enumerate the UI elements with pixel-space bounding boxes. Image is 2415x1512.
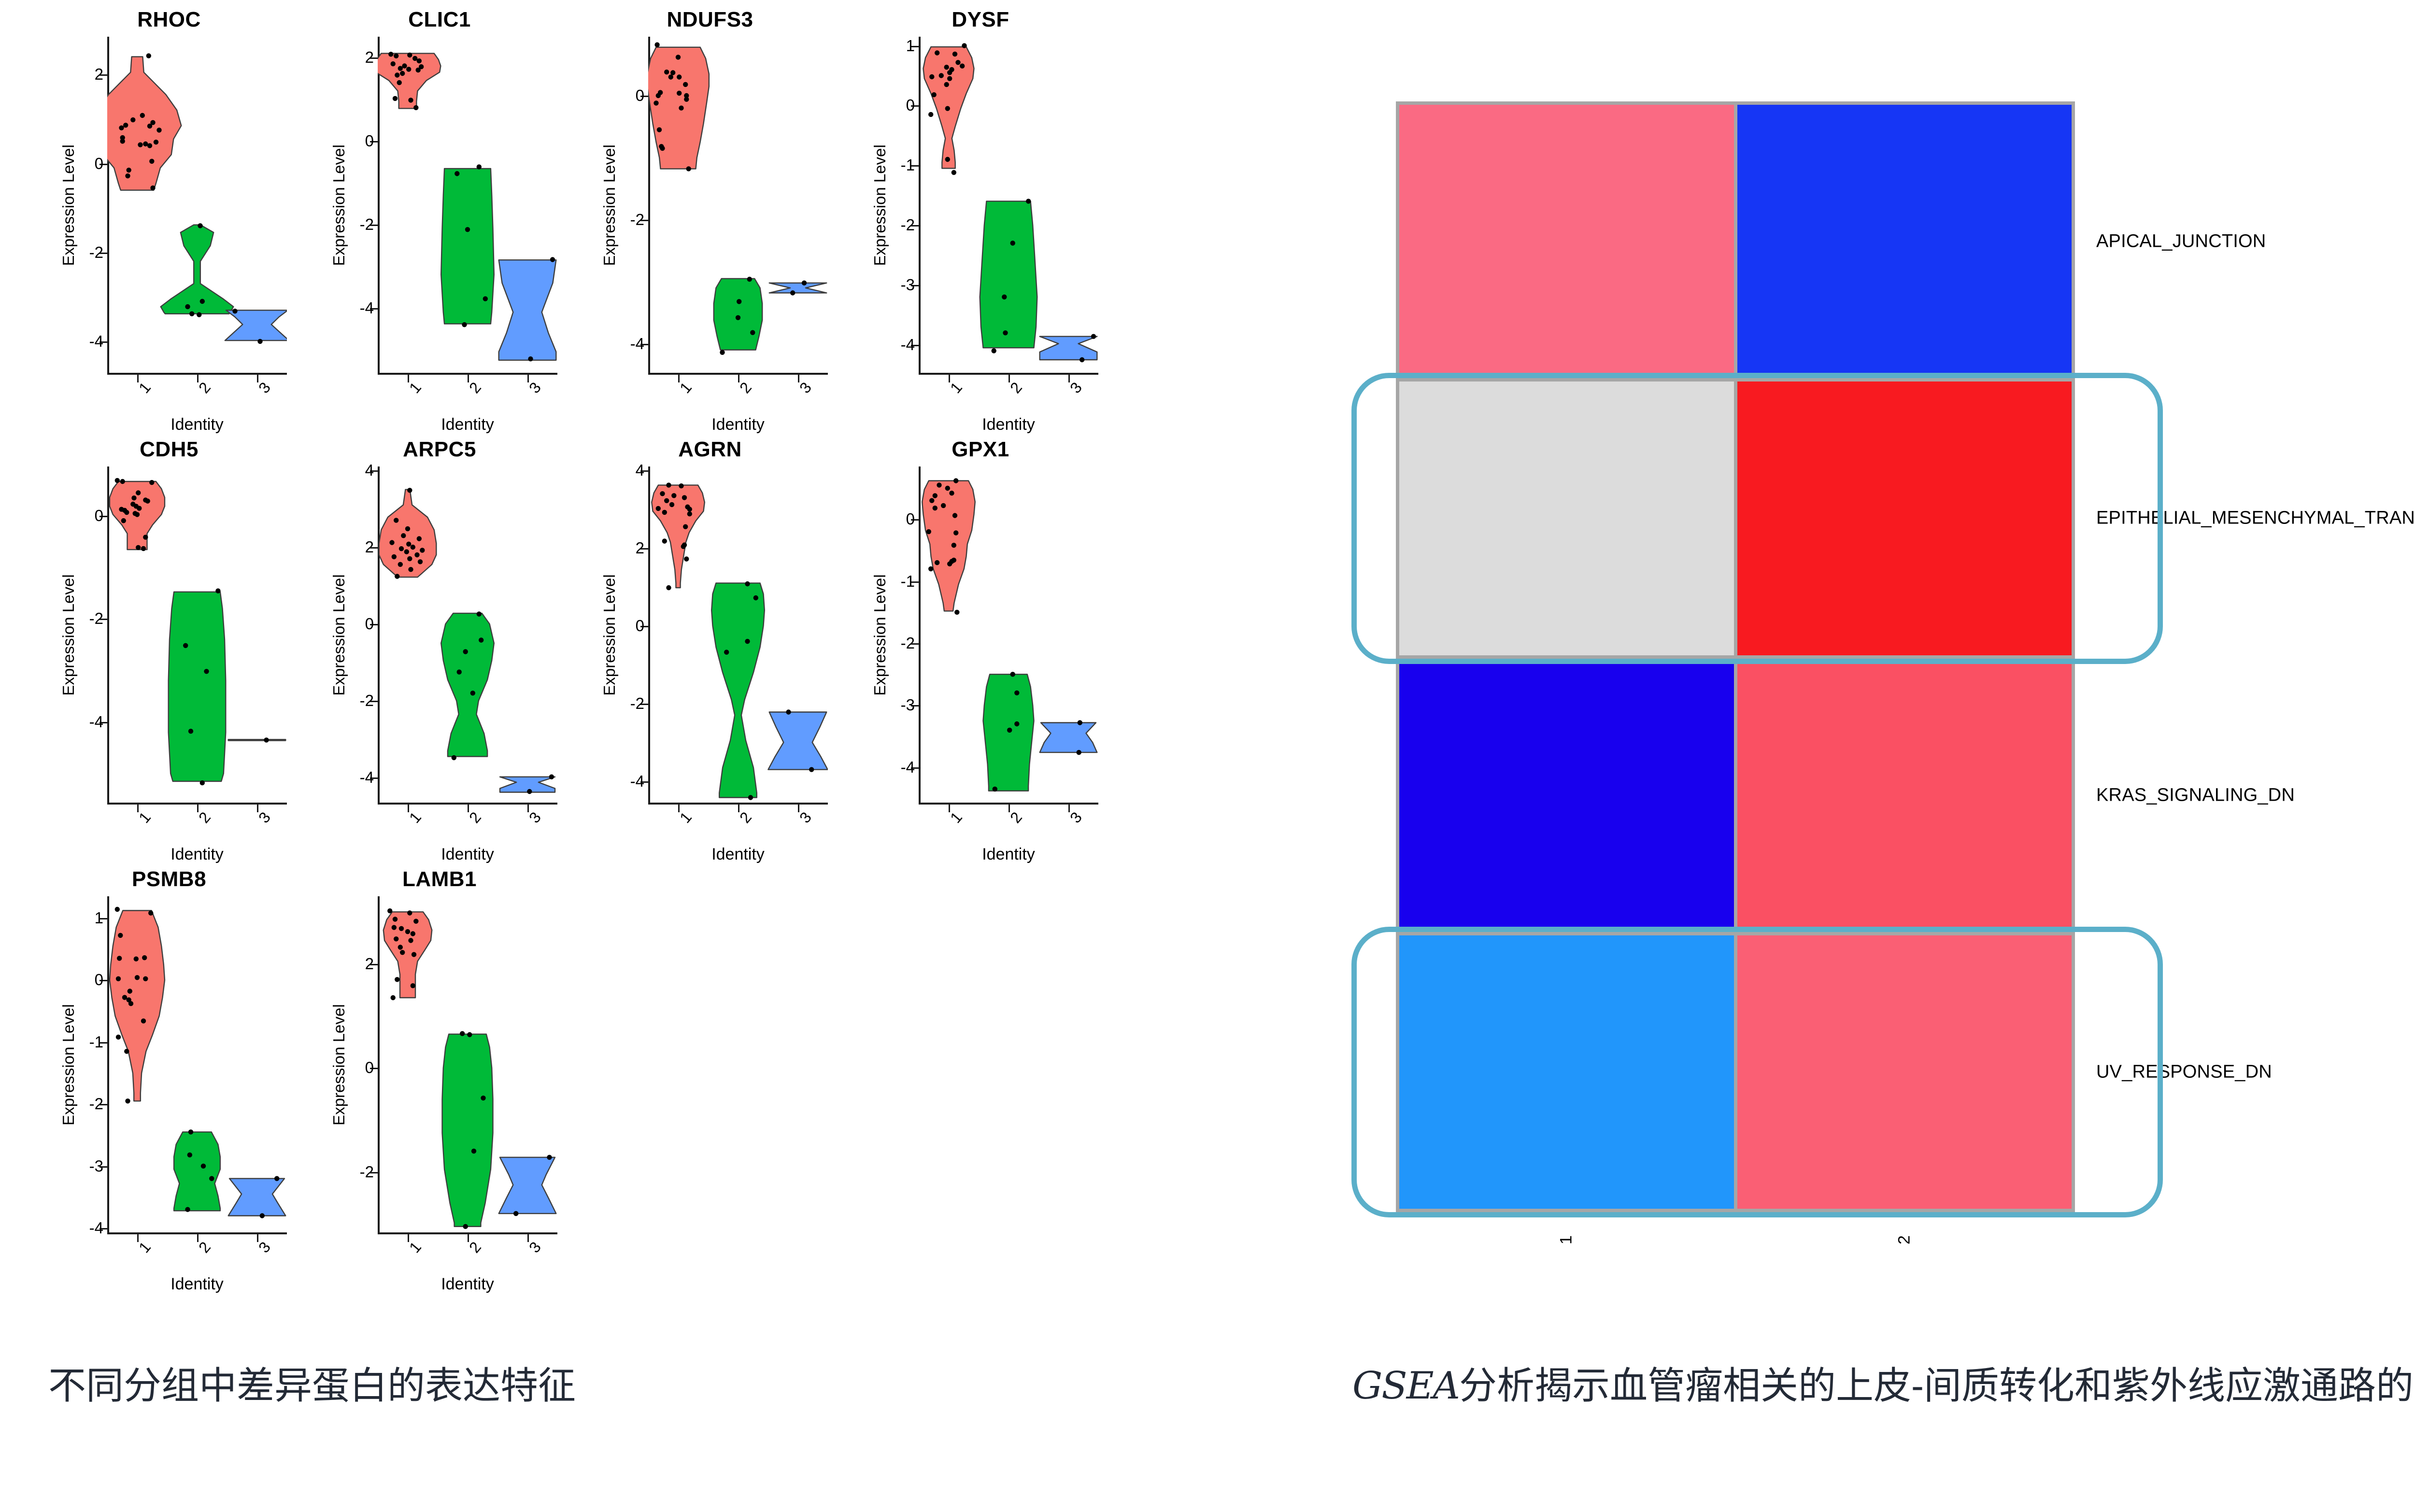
data-point [686,166,691,171]
data-point [189,311,194,316]
right-figure-caption: GSEA分析揭示血管瘤相关的上皮-间质转化和紫外线应激通路的富集 [1352,1367,2415,1405]
data-point [929,498,934,503]
data-point [407,53,412,57]
violin-shapes [378,37,557,375]
data-point [653,100,658,105]
data-point [683,82,688,87]
violin-shapes [919,466,1098,805]
x-axis-title: Identity [378,415,557,434]
data-point [724,650,729,654]
data-point [407,556,412,561]
data-point [135,975,140,980]
data-point [929,74,934,79]
x-axis-tick-label-3: 3 [1066,808,1086,826]
plot-area: 0-2-4123 [648,37,828,375]
violin-panel-title: DYSF [845,8,1116,32]
y-axis-tick-label: -4 [901,336,915,354]
violin-body-group-3 [1040,723,1097,753]
data-point [683,524,688,529]
data-point [1010,672,1015,677]
y-axis-tick-label: -1 [901,156,915,174]
data-point [467,1032,472,1037]
violin-body-group-2 [714,279,762,350]
data-point [405,929,410,934]
x-axis-title: Identity [919,415,1098,434]
data-point [953,530,958,535]
data-point [550,257,555,262]
data-point [394,936,398,941]
data-point [664,498,669,503]
y-axis-tick-label: 1 [906,37,915,55]
data-point [662,538,667,543]
x-axis-tick-label-3: 3 [255,808,274,826]
data-point [470,691,475,695]
data-point [960,64,965,69]
data-point [131,495,136,500]
data-point [669,502,674,507]
violin-plot-grid: RHOC20-2-4123Expression LevelIdentityCLI… [0,0,1198,1342]
x-axis-tick-label-1: 1 [406,379,425,396]
data-point [1026,199,1031,204]
data-point [1010,240,1015,245]
data-point [952,543,956,548]
x-axis-tick-label-2: 2 [195,1238,214,1256]
x-axis-tick-label-3: 3 [796,808,815,826]
violin-panel-lamb1: LAMB120-2123Expression LevelIdentity [304,864,575,1294]
data-point [687,507,692,511]
y-axis-tick-label: -2 [901,634,915,652]
data-point [141,546,146,551]
data-point [398,945,403,949]
data-point [477,164,482,169]
data-point [676,55,681,59]
data-point [115,478,120,483]
x-axis-tick-label-2: 2 [466,1238,485,1256]
data-point [400,71,405,76]
data-point [141,1018,146,1023]
data-point [408,567,413,572]
y-axis-tick-label: 2 [636,539,644,557]
data-point [147,143,152,148]
data-point [134,957,139,961]
x-axis-tick-label-2: 2 [466,808,485,826]
gsea-heatmap-panel: 3.971.30102999566398-1.30102999566398 AP… [1343,0,2415,1342]
y-axis-tick-label: -2 [89,609,103,628]
data-point [135,512,140,517]
data-point [200,299,205,304]
violin-body-group-3 [228,739,286,740]
data-point [928,112,933,117]
data-point [1014,691,1019,695]
data-point [933,493,938,498]
data-point [479,637,483,642]
heatmap-cell [1399,659,1734,932]
plot-area: 420-2-4123 [648,466,828,805]
plot-area: 20-2123 [378,896,557,1234]
data-point [154,140,158,144]
violin-body-group-1 [107,57,181,190]
data-point [992,348,996,353]
x-axis-title: Identity [919,845,1098,864]
violin-body-group-2 [442,1034,493,1226]
data-point [932,92,937,97]
data-point [125,173,130,178]
x-axis-tick-label-2: 2 [195,379,214,396]
data-point [115,907,120,912]
data-point [660,146,665,151]
data-point [117,956,122,961]
violin-panel-title: GPX1 [845,438,1116,462]
violin-panel-clic1: CLIC120-2-4123Expression LevelIdentity [304,5,575,435]
y-axis-tick-label: -3 [901,696,915,714]
violin-body-group-2 [980,201,1037,348]
y-axis-title: Expression Level [330,142,348,268]
data-point [928,566,933,571]
data-point [232,309,237,313]
data-point [654,42,659,47]
data-point [395,977,399,982]
data-point [748,795,753,800]
y-axis-title: Expression Level [871,142,889,268]
heatmap-column-label-2: 2 [1895,1230,1914,1250]
data-point [185,1207,190,1212]
data-point [1002,295,1007,299]
data-point [737,299,741,304]
y-axis-title: Expression Level [59,1002,78,1128]
violin-body-group-2 [174,1132,220,1211]
violin-body-group-3 [225,310,287,340]
data-point [395,72,399,77]
data-point [150,185,155,190]
data-point [937,482,941,487]
violin-body-group-1 [110,911,165,1101]
data-point [660,491,665,496]
x-axis-title: Identity [378,1275,557,1294]
data-point [127,168,131,172]
y-axis-tick-label: 2 [365,48,374,67]
violin-body-group-3 [499,1158,556,1214]
y-axis-tick-label: -2 [901,216,915,234]
caption-rest: 分析揭示血管瘤相关的上皮-间质转化和紫外线应激通路的富集 [1459,1364,2415,1407]
data-point [954,610,959,615]
data-point [147,124,152,128]
data-point [418,559,423,564]
y-axis-tick-label: -2 [89,243,103,262]
plot-area: 10-1-2-3-4123 [107,896,287,1234]
y-axis-tick-label: 4 [636,461,644,480]
data-point [399,926,404,931]
data-point [952,52,957,57]
violin-body-group-3 [1040,337,1097,360]
data-point [420,548,425,552]
x-axis-tick-label-1: 1 [135,808,155,826]
data-point [947,76,952,81]
violin-panel-title: RHOC [34,8,304,32]
data-point [204,669,209,674]
data-point [120,139,125,143]
data-point [257,339,262,344]
data-point [142,955,147,960]
data-point [402,63,407,68]
data-point [681,544,686,549]
data-point [944,65,949,70]
data-point [130,117,135,122]
data-point [411,983,415,988]
data-point [393,96,398,101]
data-point [264,737,269,742]
y-axis-tick-label: -1 [89,1033,103,1051]
data-point [137,506,142,510]
data-point [274,1176,279,1181]
data-point [666,585,671,590]
data-point [405,526,410,531]
violin-body-group-1 [379,490,437,577]
violin-panel-rhoc: RHOC20-2-4123Expression LevelIdentity [34,5,304,435]
x-axis-tick-label-1: 1 [406,1238,425,1256]
data-point [802,281,807,285]
heatmap-cell [1737,659,2072,932]
data-point [1003,330,1008,335]
data-point [460,1031,465,1036]
data-point [947,70,952,75]
data-point [116,1034,121,1039]
data-point [185,304,190,309]
violin-panel-dysf: DYSF10-1-2-3-4123Expression LevelIdentit… [845,5,1116,435]
x-axis-tick-label-3: 3 [796,379,815,396]
data-point [407,488,412,493]
data-point [389,540,394,545]
y-axis-tick-label: -1 [901,572,915,591]
data-point [477,611,482,616]
data-point [122,995,127,1000]
data-point [949,491,954,495]
y-axis-tick-label: 0 [906,96,915,114]
violin-body-group-1 [652,485,705,588]
x-axis-tick-label-3: 3 [255,379,274,396]
violin-panel-title: AGRN [575,438,845,462]
data-point [399,546,404,551]
data-point [391,995,396,1000]
data-point [188,729,193,734]
data-point [143,976,148,981]
data-point [457,669,462,674]
violin-body-group-2 [169,592,226,781]
data-point [941,503,946,508]
y-axis-tick-label: 0 [365,1059,374,1077]
data-point [962,43,966,48]
violin-body-group-2 [441,613,494,757]
plot-area: 0-2-4123 [107,466,287,805]
data-point [200,780,205,785]
data-point [809,767,814,772]
data-point [119,126,124,130]
data-point [1091,334,1096,339]
y-axis-tick-label: 2 [365,955,374,973]
x-axis-title: Identity [107,1275,287,1294]
violin-shapes [107,37,287,375]
y-axis-title: Expression Level [600,142,619,268]
data-point [483,297,488,301]
data-point [786,709,791,714]
data-point [471,1149,476,1154]
data-point [128,989,132,993]
violin-panel-title: ARPC5 [304,438,575,462]
data-point [677,91,682,96]
y-axis-tick-label: -4 [360,768,374,787]
data-point [260,1213,265,1218]
data-point [393,917,398,921]
y-axis-tick-label: -4 [630,335,644,353]
violin-body-group-3 [228,1178,286,1215]
data-point [407,910,412,915]
heatmap-cell [1399,935,1734,1209]
y-axis-tick-label: 0 [365,132,374,150]
violin-body-group-3 [500,777,555,792]
data-point [955,60,960,65]
heatmap-column-label-1: 1 [1557,1230,1576,1250]
data-point [662,510,667,515]
violin-panel-title: LAMB1 [304,867,575,891]
data-point [149,159,154,164]
data-point [398,562,403,567]
data-point [387,908,392,913]
data-point [145,498,150,503]
data-point [790,290,795,295]
data-point [664,70,669,74]
figure-root: RHOC20-2-4123Expression LevelIdentityCLI… [0,0,2415,1512]
violin-panel-agrn: AGRN420-2-4123Expression LevelIdentity [575,435,845,864]
data-point [116,976,121,981]
data-point [397,80,402,85]
y-axis-title: Expression Level [871,572,889,698]
data-point [682,495,687,500]
violin-panel-cdh5: CDH50-2-4123Expression LevelIdentity [34,435,304,864]
y-axis-tick-label: -3 [901,276,915,294]
data-point [687,511,692,516]
x-axis-tick-label-1: 1 [947,379,966,396]
data-point [935,50,939,55]
x-axis-tick-label-3: 3 [1066,379,1086,396]
data-point [670,70,675,75]
y-axis-tick-label: 0 [95,971,103,989]
data-point [392,925,397,930]
x-axis-title: Identity [378,845,557,864]
data-point [406,67,411,71]
violin-panel-title: CDH5 [34,438,304,462]
data-point [125,1099,130,1103]
data-point [209,1176,214,1181]
y-axis-tick-label: 0 [636,86,644,105]
data-point [413,919,418,924]
data-point [400,950,405,955]
data-point [416,68,421,72]
data-point [481,1096,485,1101]
data-point [452,755,456,760]
data-point [215,588,220,593]
data-point [952,558,956,563]
plot-area: 20-2-4123 [107,37,287,375]
data-point [197,312,201,317]
data-point [408,938,413,943]
x-axis-tick-label-1: 1 [135,379,155,396]
x-axis-title: Identity [107,845,287,864]
data-point [750,330,755,335]
x-axis-title: Identity [648,845,828,864]
plot-area: 420-2-4123 [378,466,557,805]
data-point [406,542,411,547]
data-point [1077,750,1081,755]
data-point [138,142,142,147]
violin-panel-title: CLIC1 [304,8,575,32]
x-axis-tick-label-3: 3 [526,379,545,396]
data-point [414,552,419,557]
y-axis-tick-label: 2 [95,65,103,84]
data-point [945,157,950,162]
y-axis-tick-label: -2 [360,215,374,234]
violin-body-group-3 [499,260,556,360]
data-point [935,560,939,565]
violin-panel-gpx1: GPX10-1-2-3-4123Expression LevelIdentity [845,435,1116,864]
heatmap-cell [1737,382,2072,655]
data-point [736,315,740,320]
data-point [953,478,958,483]
y-axis-title: Expression Level [59,142,78,268]
y-axis-tick-label: -4 [360,299,374,317]
y-axis-tick-label: -4 [89,1219,103,1237]
data-point [1080,357,1084,362]
x-axis-tick-label-1: 1 [676,808,696,826]
data-point [1007,728,1012,733]
data-point [679,106,683,111]
x-axis-tick-label-1: 1 [676,379,696,396]
violin-panel-title: NDUFS3 [575,8,845,32]
data-point [684,97,689,102]
violin-body-group-1 [648,47,709,169]
data-point [671,493,676,498]
violin-body-group-2 [161,225,234,314]
y-axis-tick-label: -4 [89,332,103,351]
data-point [747,277,752,282]
x-axis-tick-label-2: 2 [1007,379,1026,396]
y-axis-tick-label: -2 [360,1163,374,1181]
data-point [462,322,467,327]
violin-shapes [378,466,557,805]
data-point [945,106,950,111]
data-point [140,113,145,118]
y-axis-tick-label: 0 [906,510,915,528]
data-point [136,545,141,550]
data-point [528,356,533,361]
y-axis-tick-label: -2 [360,692,374,710]
x-axis-tick-label-3: 3 [255,1238,274,1256]
data-point [388,52,393,57]
data-point [926,529,931,534]
violin-panel-ndufs3: NDUFS30-2-4123Expression LevelIdentity [575,5,845,435]
x-axis-tick-label-2: 2 [195,808,214,826]
y-axis-title: Expression Level [59,572,78,698]
data-point [679,483,683,488]
data-point [417,58,422,63]
y-axis-tick-label: 0 [95,155,103,173]
violin-shapes [107,896,287,1234]
data-point [148,911,153,916]
data-point [952,170,956,175]
y-axis-tick-label: 1 [95,909,103,927]
data-point [394,54,398,58]
x-axis-tick-label-2: 2 [736,808,755,826]
data-point [1014,721,1019,726]
y-axis-tick-label: -4 [630,772,644,791]
